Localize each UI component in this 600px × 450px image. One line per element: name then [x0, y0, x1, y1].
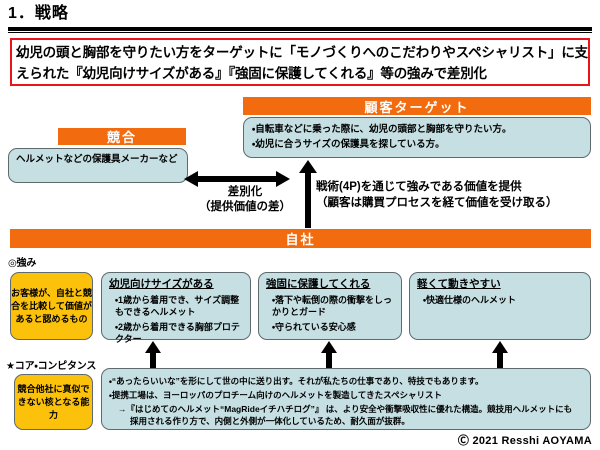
value-arrow-label: 戦術(4P)を通じて強みである価値を提供 （顧客は購買プロセスを経て価値を受け取… — [316, 179, 558, 211]
strength-card-1-heading: 幼児向けサイズがある — [109, 277, 245, 291]
strength-definition-box: お客様が、自社と競合を比較して価値があると認めるもの — [10, 272, 93, 340]
customer-target-bullets: ・自転車などに乗った際に、幼児の頭部と胸部を守りたい方。 ・幼児に合うサイズの保… — [244, 118, 590, 152]
list-item: ・自転車などに乗った際に、幼児の頭部と胸部を守りたい方。 — [252, 122, 584, 137]
title-rule-thick — [8, 27, 592, 31]
competitor-band-label: 競合 — [107, 127, 137, 146]
headline-text: 幼児の頭と胸部を守りたい方をターゲットに「モノづくりへのこだわりやスペシャリスト… — [16, 42, 588, 84]
value-arrow-label-line1: 戦術(4P)を通じて強みである価値を提供 — [316, 179, 558, 195]
strength-card-1-bullet-2: ・2歳から着用できる胸部プロテクター — [115, 321, 245, 345]
strength-card-2: 強固に保護してくれる ・落下や転倒の際の衝撃をしっかりとガード ・守られている安… — [258, 272, 402, 340]
differentiation-label-line2: （提供価値の差） — [190, 200, 300, 215]
customer-target-band: 顧客ターゲット — [243, 97, 591, 115]
strengths-caption: ◎強み — [8, 254, 36, 269]
strength-card-2-bullet-2: ・守られている安心感 — [272, 321, 396, 333]
customer-target-box: ・自転車などに乗った際に、幼児の頭部と胸部を守りたい方。 ・幼児に合うサイズの保… — [243, 117, 591, 158]
strength-card-1-bullet-1: ・1歳から着用でき、サイズ調整もできるヘルメット — [115, 294, 245, 318]
strength-card-2-bullet-1: ・落下や転倒の際の衝撃をしっかりとガード — [272, 294, 396, 318]
core-competence-caption: ★コア・コンピタンス — [6, 357, 96, 372]
competitor-box: ヘルメットなどの保護具メーカーなど — [8, 148, 188, 183]
core-competence-sub-bullet-cont: 採用される作り方で、内側と外側が一体化しているため、耐久面が抜群。 — [130, 415, 583, 427]
competitor-box-text: ヘルメットなどの保護具メーカーなど — [9, 149, 187, 166]
core-to-strength-arrow-3-head-icon — [492, 341, 508, 353]
strength-card-1: 幼児向けサイズがある ・1歳から着用でき、サイズ調整もできるヘルメット ・2歳か… — [101, 272, 251, 340]
value-arrow-shaft — [305, 171, 311, 228]
core-to-strength-arrow-1-head-icon — [145, 341, 161, 353]
strength-card-3: 軽くて動きやすい ・快適仕様のヘルメット — [409, 272, 591, 340]
slide-canvas: 1．戦略 幼児の頭と胸部を守りたい方をターゲットに「モノづくりへのこだわりやスペ… — [0, 0, 600, 450]
strength-card-3-bullet-1: ・快適仕様のヘルメット — [423, 294, 585, 306]
copyright-text: Ⓒ 2021 Resshi AOYAMA — [458, 432, 592, 448]
value-arrow-head-up-icon — [299, 160, 317, 173]
title-rule-thin — [8, 32, 592, 33]
headline-box: 幼児の頭と胸部を守りたい方をターゲットに「モノづくりへのこだわりやスペシャリスト… — [10, 38, 590, 86]
strength-card-2-heading: 強固に保護してくれる — [266, 277, 396, 291]
competitor-band: 競合 — [58, 128, 186, 145]
core-to-strength-arrow-2-head-icon — [321, 341, 337, 353]
differentiation-label: 差別化 （提供価値の差） — [190, 185, 300, 215]
own-company-band: 自社 — [10, 229, 591, 248]
core-competence-bullet-1: ・“あったらいいな”を形にして世の中に送り出す。それが私たちの仕事であり、特技で… — [109, 375, 583, 387]
differentiation-label-line1: 差別化 — [190, 185, 300, 200]
own-company-band-label: 自社 — [285, 229, 315, 248]
core-competence-sub-bullet-lead: →『はじめてのヘルメット“MagRideイチハチログ”』 は、より安全や衝撃吸収… — [118, 404, 572, 414]
strength-card-3-heading: 軽くて動きやすい — [417, 277, 585, 291]
list-item: ・幼児に合うサイズの保護具を探している方。 — [252, 137, 584, 152]
core-competence-box: ・“あったらいいな”を形にして世の中に送り出す。それが私たちの仕事であり、特技で… — [101, 368, 591, 430]
value-arrow-label-line2: （顧客は購買プロセスを経て価値を受け取る） — [316, 195, 558, 211]
core-competence-bullet-2: ・提携工場は、ヨーロッパのプロチーム向けのヘルメットを製造してきたスペシャリスト — [109, 389, 583, 401]
customer-target-band-label: 顧客ターゲット — [364, 97, 469, 116]
core-competence-sub-bullet: →『はじめてのヘルメット“MagRideイチハチログ”』 は、より安全や衝撃吸収… — [118, 403, 583, 427]
page-title: 1．戦略 — [8, 4, 69, 24]
differentiation-arrow-shaft — [196, 176, 278, 182]
core-competence-definition-box: 競合他社に真似できない核となる能力 — [14, 374, 93, 430]
